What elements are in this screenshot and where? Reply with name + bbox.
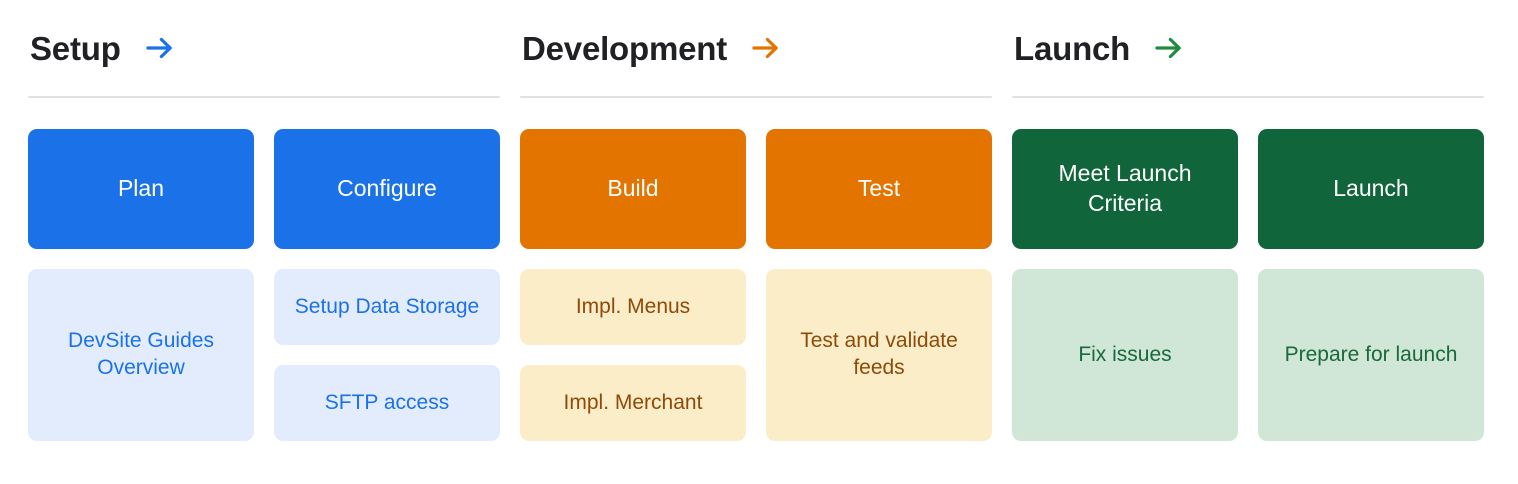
phase-title-launch: Launch [1014, 32, 1130, 65]
phase-divider-launch [1012, 96, 1484, 98]
card-meet-launch-criteria[interactable]: Meet Launch Criteria [1012, 129, 1238, 249]
arrow-right-icon [749, 31, 783, 65]
phase-development: Development Build Impl. Menus Impl. Merc… [520, 0, 992, 441]
phase-title-development: Development [522, 32, 727, 65]
card-launch[interactable]: Launch [1258, 129, 1484, 249]
arrow-right-icon [1152, 31, 1186, 65]
card-impl-menus[interactable]: Impl. Menus [520, 269, 746, 345]
phase-launch: Launch Meet Launch Criteria Fix issues L… [1012, 0, 1484, 441]
column-launch: Launch Prepare for launch [1258, 129, 1484, 441]
arrow-right-icon [143, 31, 177, 65]
column-build: Build Impl. Menus Impl. Merchant [520, 129, 746, 441]
phase-setup: Setup Plan DevSite Guides Overview Confi… [28, 0, 500, 441]
phase-divider-development [520, 96, 992, 98]
card-sftp-access[interactable]: SFTP access [274, 365, 500, 441]
phase-header-launch: Launch [1012, 0, 1484, 96]
subcards-configure: Setup Data Storage SFTP access [274, 269, 500, 441]
card-configure[interactable]: Configure [274, 129, 500, 249]
phase-title-setup: Setup [30, 32, 121, 65]
column-meet-launch-criteria: Meet Launch Criteria Fix issues [1012, 129, 1238, 441]
card-prepare-for-launch[interactable]: Prepare for launch [1258, 269, 1484, 441]
card-test-and-validate-feeds[interactable]: Test and validate feeds [766, 269, 992, 441]
subcards-build: Impl. Menus Impl. Merchant [520, 269, 746, 441]
phase-header-setup: Setup [28, 0, 500, 96]
card-impl-merchant[interactable]: Impl. Merchant [520, 365, 746, 441]
subcards-plan: DevSite Guides Overview [28, 269, 254, 441]
column-plan: Plan DevSite Guides Overview [28, 129, 254, 441]
phase-columns-development: Build Impl. Menus Impl. Merchant Test Te… [520, 129, 992, 441]
card-test[interactable]: Test [766, 129, 992, 249]
card-build[interactable]: Build [520, 129, 746, 249]
phase-columns-launch: Meet Launch Criteria Fix issues Launch P… [1012, 129, 1484, 441]
subcards-test: Test and validate feeds [766, 269, 992, 441]
subcards-launch: Prepare for launch [1258, 269, 1484, 441]
subcards-meet-launch-criteria: Fix issues [1012, 269, 1238, 441]
column-test: Test Test and validate feeds [766, 129, 992, 441]
card-setup-data-storage[interactable]: Setup Data Storage [274, 269, 500, 345]
card-devsite-guides-overview[interactable]: DevSite Guides Overview [28, 269, 254, 441]
card-plan[interactable]: Plan [28, 129, 254, 249]
card-fix-issues[interactable]: Fix issues [1012, 269, 1238, 441]
phase-header-development: Development [520, 0, 992, 96]
phase-divider-setup [28, 96, 500, 98]
phase-columns-setup: Plan DevSite Guides Overview Configure S… [28, 129, 500, 441]
column-configure: Configure Setup Data Storage SFTP access [274, 129, 500, 441]
process-flow-diagram: Setup Plan DevSite Guides Overview Confi… [0, 0, 1518, 484]
